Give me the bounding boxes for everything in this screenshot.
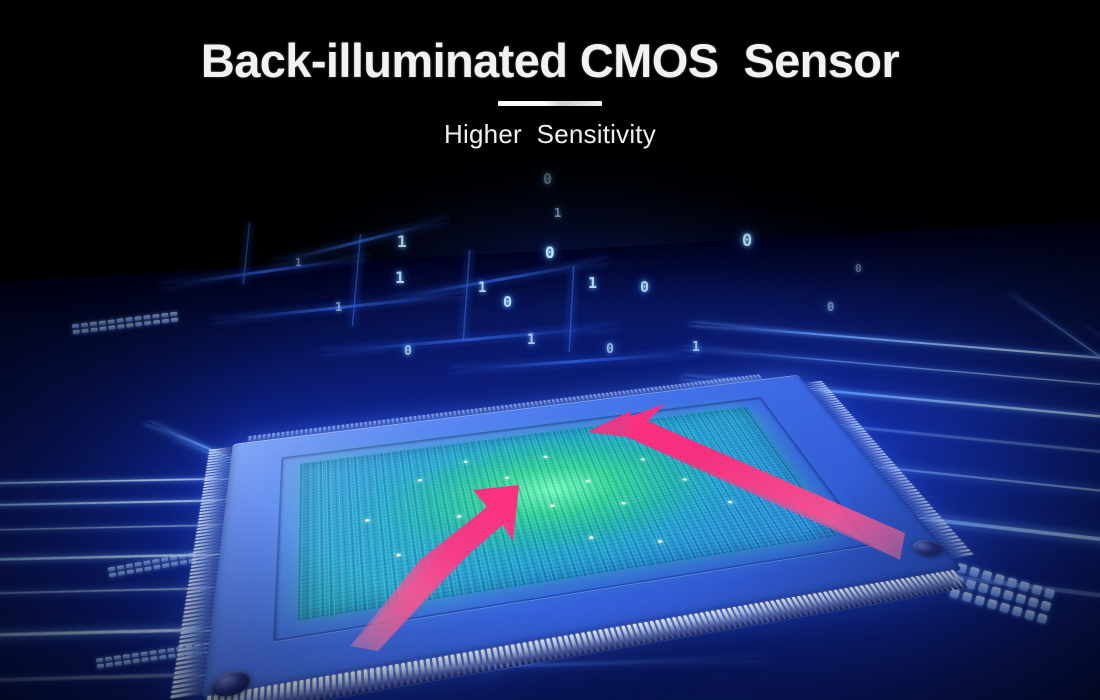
- background-circuit-traces: [150, 210, 710, 410]
- screenshot-root: 010100111010011010 Back-illuminated CMOS…: [0, 0, 1100, 700]
- cmos-sensor-photo: 010100111010011010: [0, 0, 1100, 700]
